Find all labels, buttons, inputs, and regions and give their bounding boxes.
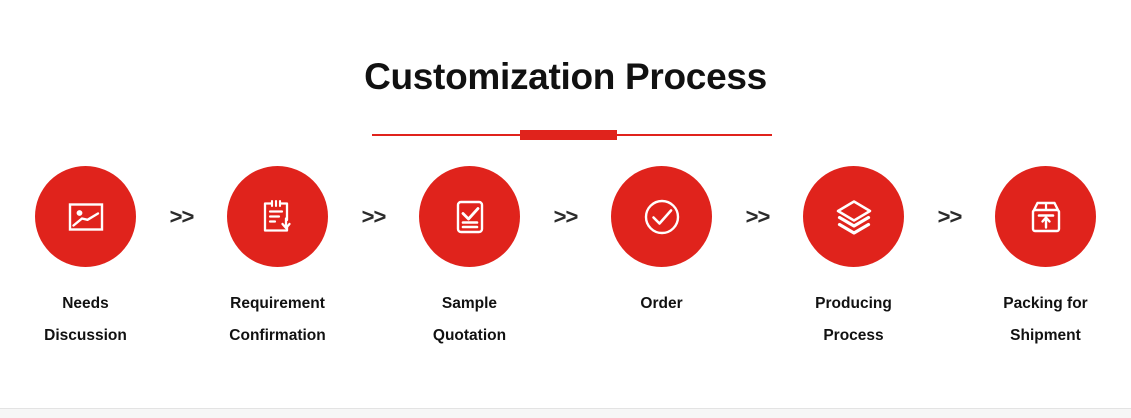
step-label: Sample Quotation	[433, 288, 506, 352]
layers-stack-icon	[830, 193, 878, 241]
image-picture-icon	[63, 194, 109, 240]
step-label: Producing Process	[815, 288, 892, 352]
step-label-line1: Requirement	[230, 295, 325, 312]
process-step-3[interactable]: Sample Quotation	[395, 166, 545, 352]
double-chevron-right-icon: >>	[353, 166, 395, 267]
clipboard-download-icon	[255, 194, 301, 240]
step-label-line2: Shipment	[1003, 320, 1087, 352]
page-title: Customization Process	[0, 55, 1131, 99]
double-chevron-right-icon: >>	[737, 166, 779, 267]
process-steps: Needs Discussion >>	[0, 166, 1131, 352]
process-step-4[interactable]: Order	[587, 166, 737, 320]
process-step-1[interactable]: Needs Discussion	[11, 166, 161, 352]
step-label-line2: Confirmation	[229, 320, 325, 352]
double-chevron-right-icon: >>	[929, 166, 971, 267]
process-step-6[interactable]: Packing for Shipment	[971, 166, 1121, 352]
title-divider	[372, 128, 772, 142]
bottom-strip	[0, 409, 1131, 418]
double-chevron-right-icon: >>	[161, 166, 203, 267]
step-label-line1: Order	[640, 295, 682, 312]
step-icon-circle	[611, 166, 712, 267]
step-label: Needs Discussion	[44, 288, 127, 352]
document-check-icon	[447, 194, 493, 240]
step-icon-circle	[995, 166, 1096, 267]
customization-process-banner: Customization Process Needs Discussion	[0, 0, 1131, 418]
step-label-line1: Producing	[815, 295, 892, 312]
step-label-line2: Process	[815, 320, 892, 352]
step-label: Requirement Confirmation	[229, 288, 325, 352]
process-step-5[interactable]: Producing Process	[779, 166, 929, 352]
step-icon-circle	[803, 166, 904, 267]
step-label: Packing for Shipment	[1003, 288, 1087, 352]
process-step-2[interactable]: Requirement Confirmation	[203, 166, 353, 352]
step-label-line1: Packing for	[1003, 295, 1087, 312]
title-block: Customization Process	[0, 55, 1131, 99]
step-icon-circle	[35, 166, 136, 267]
step-icon-circle	[227, 166, 328, 267]
step-label-line1: Needs	[62, 295, 109, 312]
check-circle-icon	[638, 193, 686, 241]
step-label-line2: Discussion	[44, 320, 127, 352]
package-box-arrow-up-icon	[1022, 193, 1070, 241]
double-chevron-right-icon: >>	[545, 166, 587, 267]
divider-accent-bar	[520, 130, 617, 140]
step-label: Order	[640, 288, 682, 320]
step-label-line1: Sample	[442, 295, 497, 312]
step-icon-circle	[419, 166, 520, 267]
step-label-line2: Quotation	[433, 320, 506, 352]
